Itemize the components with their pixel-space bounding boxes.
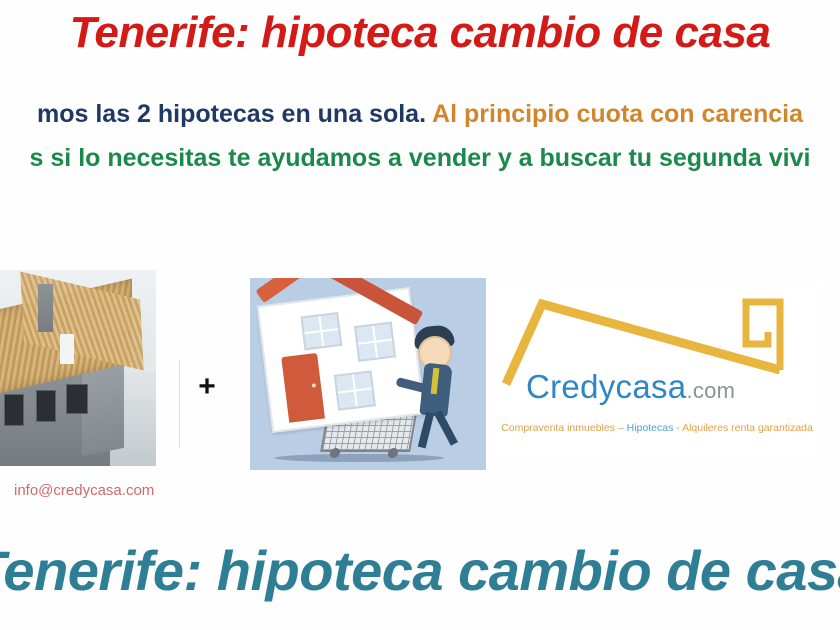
credycasa-logo: Credycasa.com Compraventa inmuebles – Hi… [492,282,822,460]
tagline-part-1: Compraventa inmuebles – [501,422,626,434]
logo-tagline: Compraventa inmuebles – Hipotecas - Alqu… [492,422,822,434]
photo-window [36,390,56,422]
page-title-bottom: Tenerife: hipoteca cambio de casa [0,538,840,603]
tagline-part-2: Hipotecas [627,422,674,434]
logo-brand-text: Credycasa [526,368,686,405]
cartoon-roof-left [255,278,349,303]
cartoon-window [354,322,396,362]
subtitle-segment-navy: mos las 2 hipotecas en una sola. [37,100,426,128]
contact-email[interactable]: info@credycasa.com [14,482,154,499]
logo-tld-text: .com [686,378,735,403]
subtitle-line-2: s si lo necesitas te ayudamos a vender y… [0,144,840,173]
subtitle-line-1: mos las 2 hipotecas en una sola. Al prin… [0,100,840,129]
photo-house-wall-side [82,362,124,456]
cartoon-door [281,353,325,423]
tagline-part-3: - Alquileres renta garantizada [673,422,813,434]
media-strip: + [0,262,840,474]
construction-house-photo [0,270,156,466]
photo-dormer [60,334,74,364]
plus-icon: + [196,374,218,400]
cartoon-house [257,287,425,433]
logo-wordmark: Credycasa.com [526,368,735,406]
house-shopping-cart-illustration [250,278,486,470]
cartoon-door-knob [312,383,316,387]
subtitle-segment-orange: Al principio cuota con carencia [426,100,803,128]
cartoon-man-leg [418,412,434,449]
cartoon-window [334,370,376,410]
cartoon-shadow [274,454,444,462]
cartoon-roof-right [325,278,423,325]
photo-window [66,384,88,414]
cartoon-window [300,312,342,350]
page-title-top: Tenerife: hipoteca cambio de casa [0,8,840,58]
photo-chimney [38,284,53,332]
subtitle-segment-green: s si lo necesitas te ayudamos a vender y… [30,144,811,172]
poster-canvas: Tenerife: hipoteca cambio de casa mos la… [0,0,840,630]
vertical-divider [179,360,180,448]
photo-window [4,394,24,426]
